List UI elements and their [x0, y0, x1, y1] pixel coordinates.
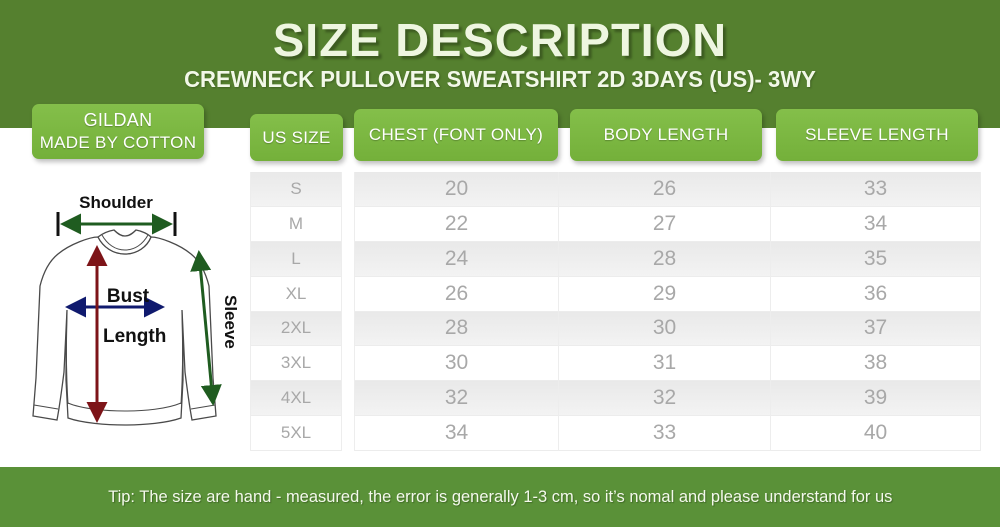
table-cell-chest: 28 [355, 312, 558, 347]
shoulder-label: Shoulder [79, 193, 153, 212]
table-cell-sleeve-length: 33 [771, 172, 980, 207]
brand-tagline: MADE BY COTTON [40, 132, 197, 155]
table-cell-sleeve-length: 35 [771, 242, 980, 277]
table-column-sleeve-length: 33 34 35 36 37 38 39 40 [770, 172, 981, 451]
page-subtitle: CREWNECK PULLOVER SWEATSHIRT 2D 3DAYS (U… [20, 66, 980, 93]
table-cell-body-length: 28 [559, 242, 770, 277]
table-cell-chest: 22 [355, 207, 558, 242]
table-cell-body-length: 29 [559, 277, 770, 312]
table-cell-size: 5XL [251, 416, 341, 451]
table-cell-chest: 34 [355, 416, 558, 451]
table-cell-chest: 30 [355, 346, 558, 381]
table-cell-size: S [251, 172, 341, 207]
size-chart-page: SIZE DESCRIPTION CREWNECK PULLOVER SWEAT… [0, 0, 1000, 527]
table-cell-sleeve-length: 36 [771, 277, 980, 312]
table-cell-size: L [251, 242, 341, 277]
table-cell-sleeve-length: 37 [771, 312, 980, 347]
table-cell-chest: 32 [355, 381, 558, 416]
table-cell-size: XL [251, 277, 341, 312]
table-cell-sleeve-length: 34 [771, 207, 980, 242]
table-cell-size: M [251, 207, 341, 242]
column-header-chest: CHEST (FONT ONLY) [354, 109, 558, 161]
table-cell-chest: 26 [355, 277, 558, 312]
page-title: SIZE DESCRIPTION [0, 13, 1000, 67]
table-cell-body-length: 33 [559, 416, 770, 451]
column-header-sleeve-length: SLEEVE LENGTH [776, 109, 978, 161]
table-cell-sleeve-length: 38 [771, 346, 980, 381]
table-column-us-size: S M L XL 2XL 3XL 4XL 5XL [250, 172, 342, 451]
table-cell-size: 3XL [251, 346, 341, 381]
sleeve-label: Sleeve [221, 295, 240, 349]
table-column-chest: 20 22 24 26 28 30 32 34 [354, 172, 558, 451]
brand-tab: GILDAN MADE BY COTTON [32, 104, 204, 159]
size-table: S M L XL 2XL 3XL 4XL 5XL 20 22 24 26 28 … [250, 172, 981, 451]
footer-tip-text: Tip: The size are hand - measured, the e… [108, 487, 892, 507]
table-cell-sleeve-length: 39 [771, 381, 980, 416]
table-cell-body-length: 27 [559, 207, 770, 242]
footer-banner: Tip: The size are hand - measured, the e… [0, 467, 1000, 527]
sweatshirt-illustration: Shoulder Sleeve Bust Length [10, 190, 240, 440]
table-cell-size: 4XL [251, 381, 341, 416]
table-cell-body-length: 31 [559, 346, 770, 381]
table-cell-body-length: 26 [559, 172, 770, 207]
table-column-body-length: 26 27 28 29 30 31 32 33 [558, 172, 770, 451]
table-cell-size: 2XL [251, 312, 341, 347]
brand-name: GILDAN [84, 108, 153, 132]
column-header-us-size: US SIZE [250, 114, 343, 161]
table-cell-sleeve-length: 40 [771, 416, 980, 451]
bust-label: Bust [107, 286, 150, 307]
table-cell-chest: 24 [355, 242, 558, 277]
table-cell-body-length: 30 [559, 312, 770, 347]
table-cell-body-length: 32 [559, 381, 770, 416]
length-label: Length [103, 326, 166, 347]
table-cell-chest: 20 [355, 172, 558, 207]
column-header-body-length: BODY LENGTH [570, 109, 762, 161]
measurement-diagram: Shoulder Sleeve Bust Length [10, 190, 240, 440]
